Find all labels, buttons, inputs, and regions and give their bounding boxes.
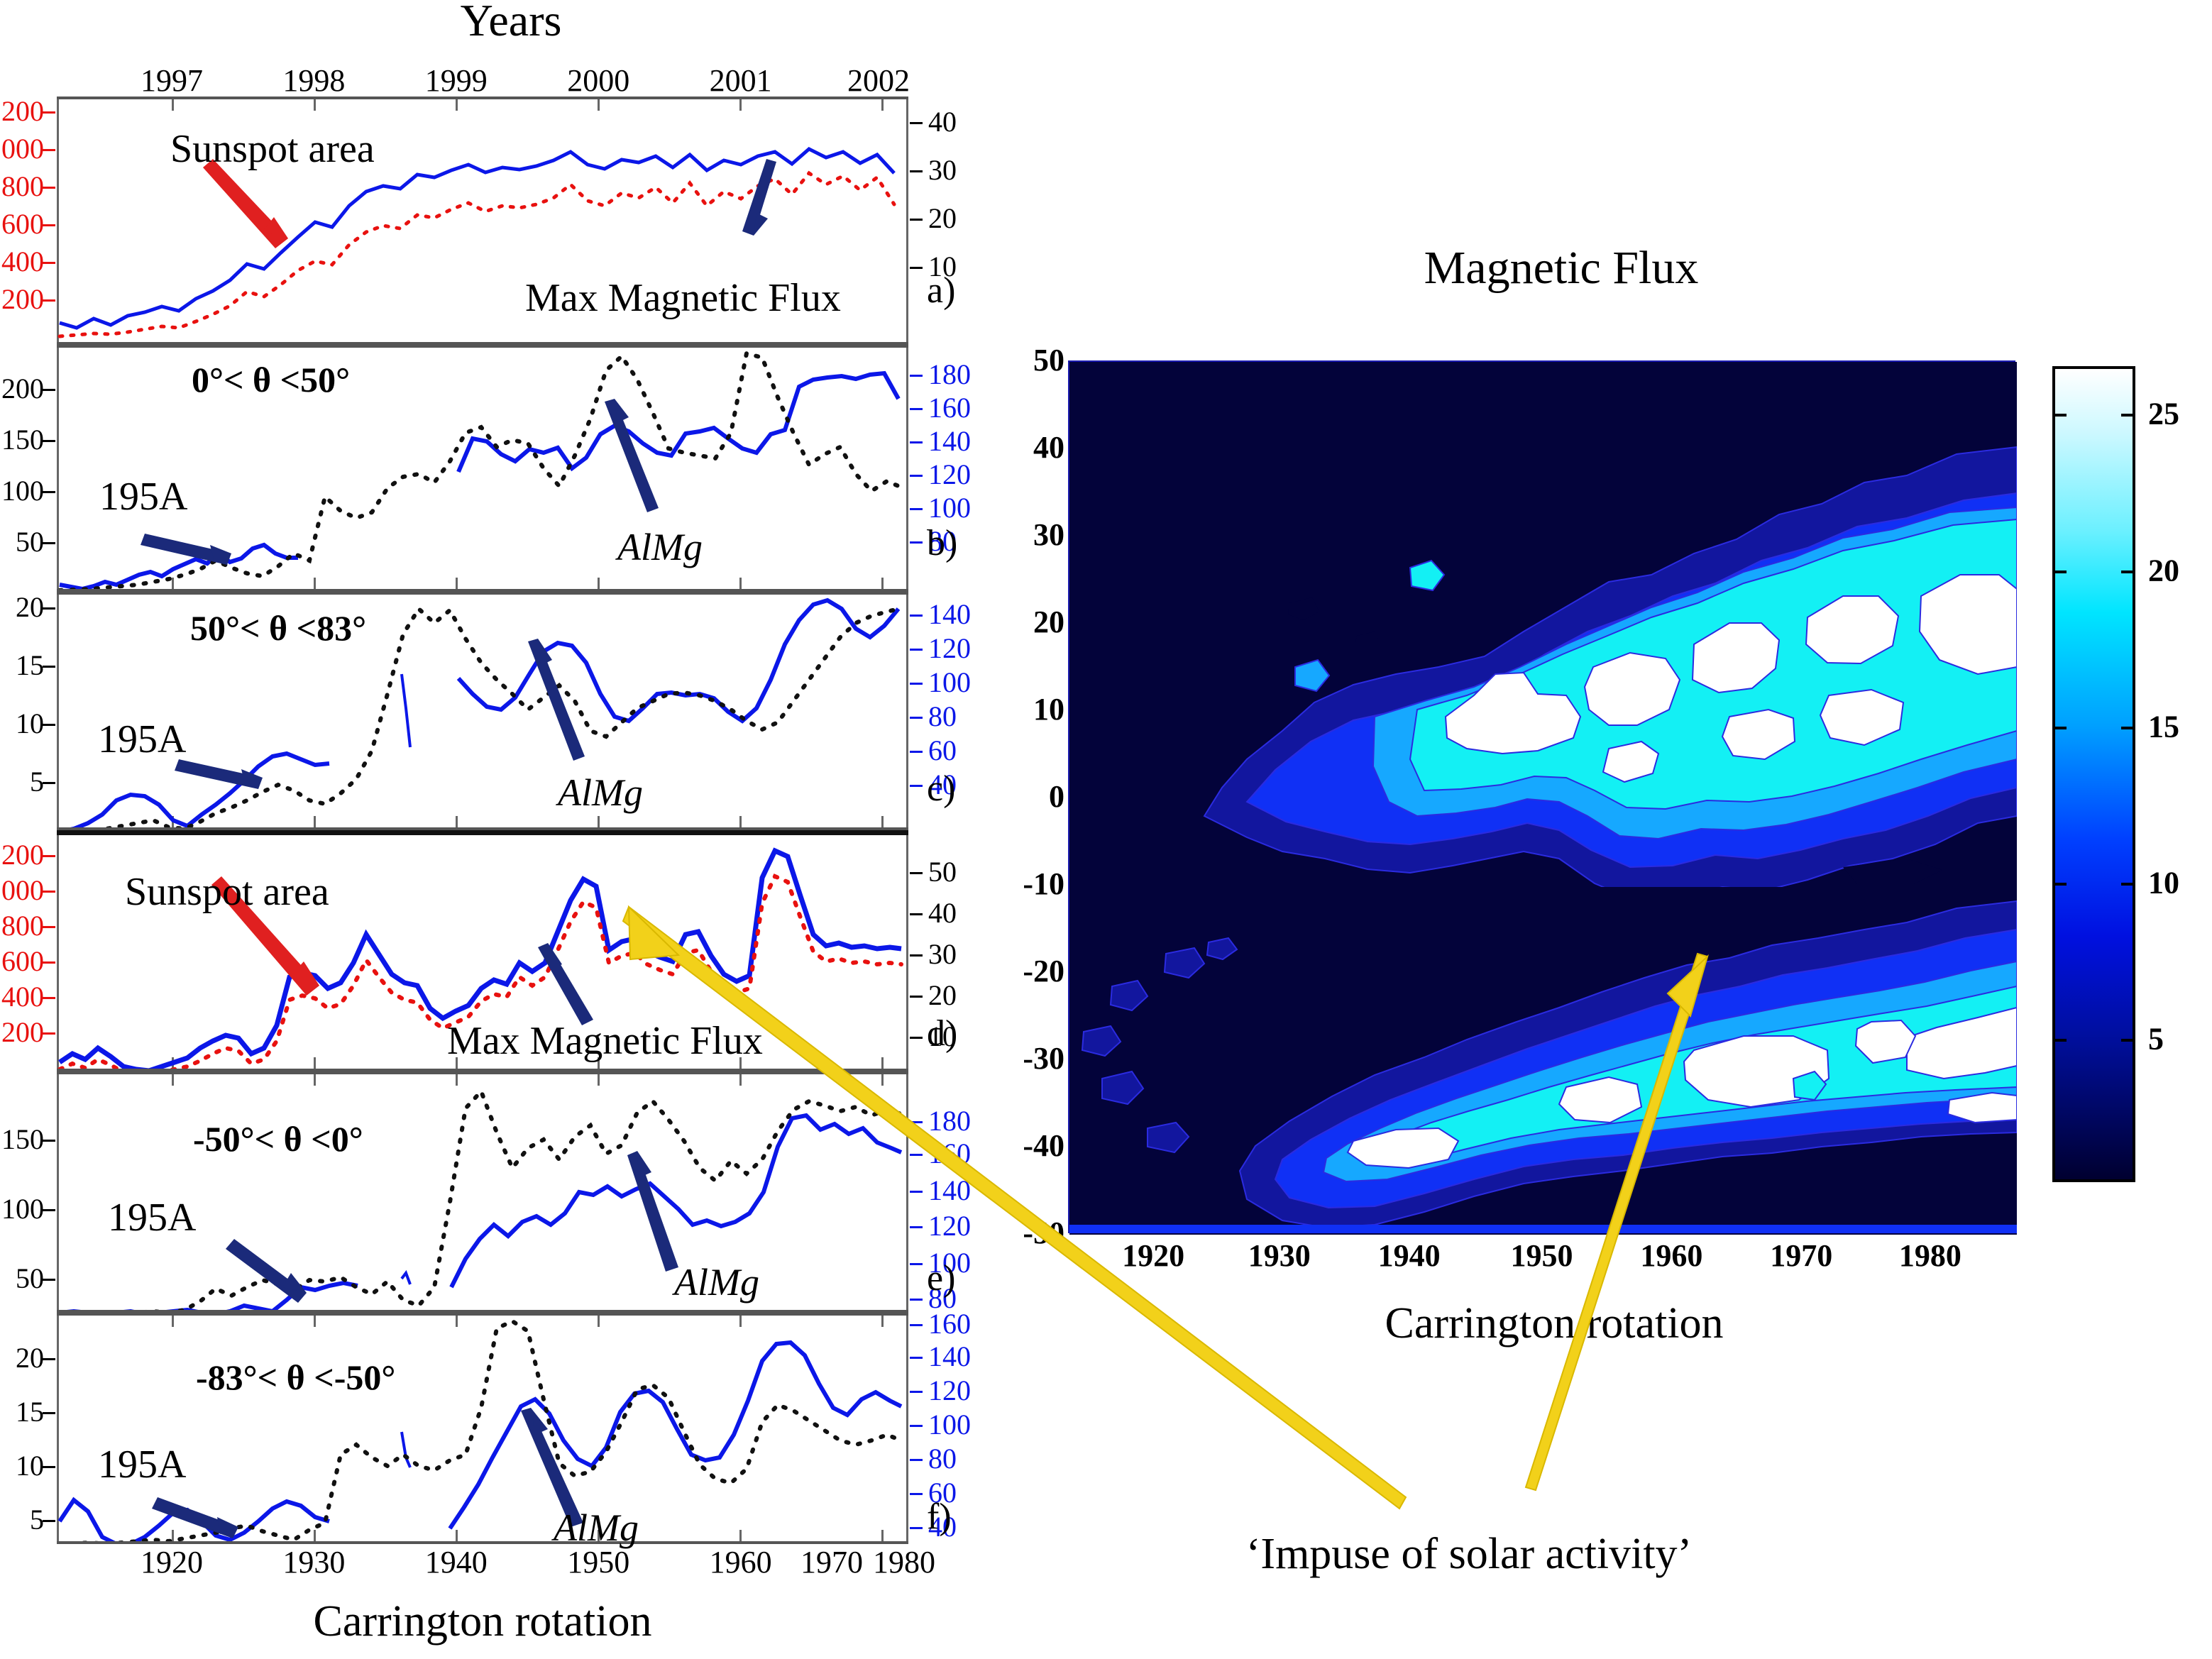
panel-d-left-axis: 1200 1000 800 600 400 200: [0, 835, 55, 1069]
panel-a-ytick-400: 400: [1, 248, 44, 276]
panel-a-sunspot-area-label: Sunspot area: [170, 126, 375, 172]
contour-y-axis: 50 40 30 20 10 0 -10 -20 -30 -40 -50: [986, 360, 1064, 1233]
panel-f-ytick-10: 10: [16, 1452, 44, 1480]
panel-e-tag: e): [927, 1257, 955, 1299]
panel-d: 1200 1000 800 600 400 200 50 40 30 20 10: [57, 830, 908, 1071]
contour-xtick-1980: 1980: [1899, 1240, 1961, 1272]
contour-ytick-0: 0: [1049, 781, 1064, 812]
panel-f-ytick-5: 5: [30, 1506, 44, 1534]
impulse-of-solar-activity-caption: ‘Impuse of solar activity’: [1079, 1529, 1859, 1580]
panel-e: 150 100 50 180 160 140 120 100 80: [57, 1071, 908, 1313]
colorbar-tick-25: 25: [2148, 396, 2179, 432]
panel-c-theta-label: 50°< θ <83°: [190, 607, 366, 649]
panel-f-plot-area: [57, 1316, 908, 1541]
panel-a: 1200 1000 800 600 400 200 40 30 20 10: [57, 97, 908, 345]
panel-e-left-axis: 150 100 50: [0, 1074, 55, 1310]
panel-c-ytick-20: 20: [16, 593, 44, 622]
years-axis-tick-labels: 1997 1998 1999 2000 2001 2002: [57, 62, 908, 97]
year-tick-2002: 2002: [847, 62, 910, 99]
carrington-tick-1960: 1960: [710, 1544, 772, 1580]
panel-e-195a-spike: [402, 1273, 410, 1284]
panel-a-tag: a): [927, 270, 955, 312]
panel-b-theta-label: 0°< θ <50°: [192, 359, 350, 400]
panel-f-almg-arrow: [57, 1316, 908, 1541]
panel-c-almg-label: AlMg: [558, 771, 643, 815]
panel-d-ytick-1200: 1200: [0, 841, 44, 869]
contour-x-axis: 1920 1930 1940 1950 1960 1970 1980: [1068, 1240, 2015, 1283]
contour-xtick-1950: 1950: [1511, 1240, 1573, 1272]
panel-d-max-magnetic-flux-label: Max Magnetic Flux: [447, 1018, 763, 1064]
panel-b-195a-label: 195A: [99, 474, 187, 519]
panel-d-ytick-right-40: 40: [928, 899, 957, 927]
panel-b-195a-curve: [60, 545, 298, 589]
carrington-axis-tick-labels: 1920 1930 1940 1950 1960 1970 1980: [57, 1544, 908, 1587]
contour-ytick-10: 10: [1033, 694, 1064, 725]
panel-f-ytick-right-140: 140: [928, 1343, 971, 1371]
panel-f-almg-curve: [450, 1343, 901, 1528]
carrington-tick-1920: 1920: [141, 1544, 203, 1580]
panel-c-ytick-right-60: 60: [928, 737, 957, 765]
panel-c-ytick-right-140: 140: [928, 600, 971, 629]
panel-b-ytick-right-160: 160: [928, 394, 971, 422]
colorbar-tick-5: 5: [2148, 1021, 2164, 1057]
panel-c-ytick-15: 15: [16, 651, 44, 680]
panel-f-195a-label: 195A: [98, 1442, 186, 1487]
panel-e-195a-curve: [60, 1283, 358, 1310]
panel-e-theta-label: -50°< θ <0°: [193, 1118, 363, 1159]
panel-e-ytick-right-160: 160: [928, 1140, 971, 1168]
panel-c-195a-curve: [60, 754, 329, 827]
panel-a-ytick-600: 600: [1, 210, 44, 238]
panel-d-ytick-right-20: 20: [928, 981, 957, 1010]
panel-d-ytick-800: 800: [1, 912, 44, 940]
contour-filled-regions: [1069, 362, 2017, 1235]
contour-ytick-30: 30: [1033, 519, 1064, 551]
panel-b-ytick-right-180: 180: [928, 360, 971, 389]
panel-e-ytick-right-120: 120: [928, 1212, 971, 1240]
panel-c: 20 15 10 5 140 120 100 80 60 40: [57, 592, 908, 830]
magnetic-flux-contour-map: [1068, 360, 2015, 1233]
years-axis-title: Years: [369, 0, 653, 47]
contour-ytick-neg40: -40: [1023, 1130, 1064, 1162]
panel-b-tag: b): [927, 522, 957, 564]
panel-f-ytick-right-100: 100: [928, 1411, 971, 1439]
panel-f-curves: [57, 1316, 908, 1541]
panel-f-195a-arrow: [57, 1316, 908, 1541]
panel-d-ytick-600: 600: [1, 947, 44, 976]
panel-d-ytick-200: 200: [1, 1018, 44, 1047]
panel-c-195a-spike: [402, 674, 410, 747]
panel-d-ytick-right-30: 30: [928, 940, 957, 969]
contour-ytick-neg30: -30: [1023, 1043, 1064, 1074]
contour-xtick-1930: 1930: [1248, 1240, 1311, 1272]
carrington-tick-1940: 1940: [425, 1544, 488, 1580]
contour-ytick-neg20: -20: [1023, 956, 1064, 987]
year-tick-2000: 2000: [567, 62, 629, 99]
panel-c-195a-label: 195A: [98, 717, 186, 762]
panel-b-ytick-150: 150: [1, 426, 44, 454]
panel-d-ytick-400: 400: [1, 983, 44, 1011]
panel-d-ytick-right-50: 50: [928, 858, 957, 886]
panel-d-ytick-1000: 1000: [0, 876, 44, 905]
panel-a-ytick-right-20: 20: [928, 204, 957, 233]
panel-c-almg-arrow: [57, 595, 908, 827]
panel-f-ytick-20: 20: [16, 1344, 44, 1372]
panel-b-almg-label: AlMg: [617, 525, 703, 569]
panel-c-plot-area: [57, 595, 908, 827]
panel-f-195a-curve: [60, 1500, 329, 1541]
panel-c-ytick-right-80: 80: [928, 702, 957, 731]
panel-c-ytick-right-100: 100: [928, 668, 971, 697]
panel-a-left-axis: 1200 1000 800 600 400 200: [0, 99, 55, 342]
colorbar-tick-labels: 25 20 15 10 5: [2052, 366, 2212, 1182]
colorbar-tick-10: 10: [2148, 865, 2179, 901]
panel-b-plot-area: [57, 348, 908, 589]
panel-e-ytick-50: 50: [16, 1264, 44, 1293]
panel-e-195a-label: 195A: [108, 1195, 196, 1240]
panel-b-ytick-50: 50: [16, 528, 44, 556]
contour-xaxis-caption: Carrington rotation: [1292, 1299, 1817, 1349]
panel-c-ytick-right-120: 120: [928, 634, 971, 663]
carrington-tick-1970: 1970: [800, 1544, 863, 1580]
carrington-tick-1930: 1930: [282, 1544, 345, 1580]
contour-ytick-neg10: -10: [1023, 869, 1064, 900]
panel-b-ytick-right-100: 100: [928, 494, 971, 522]
panel-b-ytick-100: 100: [1, 477, 44, 505]
panel-a-ytick-right-30: 30: [928, 156, 957, 184]
colorbar-tick-15: 15: [2148, 709, 2179, 745]
panel-a-max-magnetic-flux-label: Max Magnetic Flux: [525, 275, 841, 321]
timeseries-panel-column: Years 1997 1998 1999 2000 2001 2002 1200…: [0, 0, 994, 1659]
panel-e-plot-area: [57, 1074, 908, 1310]
panel-f-ytick-15: 15: [16, 1398, 44, 1426]
panel-f-left-axis: 20 15 10 5: [0, 1316, 55, 1541]
panel-c-tag: c): [927, 768, 955, 810]
panel-c-curves: [57, 595, 908, 827]
panel-f: 20 15 10 5 160 140 120 100 80 60 40: [57, 1313, 908, 1544]
panel-f-ytick-right-120: 120: [928, 1377, 971, 1405]
panel-c-ytick-5: 5: [30, 768, 44, 796]
contour-xtick-1940: 1940: [1378, 1240, 1441, 1272]
carrington-tick-1950: 1950: [567, 1544, 629, 1580]
panel-d-sunspot-area-label: Sunspot area: [125, 869, 329, 915]
panel-b-almg-curve: [458, 373, 898, 472]
panel-f-theta-label: -83°< θ <-50°: [196, 1357, 395, 1398]
panel-a-ytick-1200: 1200: [0, 97, 44, 126]
panel-e-curves: [57, 1074, 908, 1310]
year-tick-1997: 1997: [141, 62, 203, 99]
panel-e-ytick-right-180: 180: [928, 1107, 971, 1135]
contour-ytick-20: 20: [1033, 607, 1064, 638]
panel-c-ytick-10: 10: [16, 710, 44, 738]
carrington-tick-1980: 1980: [873, 1544, 935, 1580]
contour-ytick-50: 50: [1033, 345, 1064, 376]
panel-f-almg-label: AlMg: [554, 1506, 639, 1550]
year-tick-1999: 1999: [425, 62, 488, 99]
panel-e-195a-arrow: [57, 1074, 908, 1310]
panel-d-tag: d): [927, 1013, 957, 1054]
panel-c-almg-curve: [458, 600, 898, 721]
panel-b-left-axis: 200 150 100 50: [0, 348, 55, 589]
colorbar-tick-20: 20: [2148, 553, 2179, 589]
panel-b-ytick-right-140: 140: [928, 427, 971, 456]
panel-e-almg-arrow: [57, 1074, 908, 1310]
panel-b-almg-arrow: [57, 348, 908, 589]
panel-f-195a-dotted-curve: [60, 1321, 901, 1541]
panel-b-curves: [57, 348, 908, 589]
panel-a-ytick-200: 200: [1, 285, 44, 314]
panel-c-left-axis: 20 15 10 5: [0, 595, 55, 827]
panel-f-ytick-right-160: 160: [928, 1310, 971, 1338]
panel-b-195a-dotted-curve: [60, 353, 898, 589]
panel-c-195a-arrow: [57, 595, 908, 827]
panel-f-tag: f): [927, 1496, 952, 1538]
panel-b: 200 150 100 50 180 160 140 120 100 80: [57, 345, 908, 592]
panel-b-ytick-right-120: 120: [928, 461, 971, 489]
panel-e-almg-label: AlMg: [674, 1260, 759, 1304]
contour-ytick-neg50: -50: [1023, 1218, 1064, 1249]
contour-panel-column: Magnetic Flux: [994, 0, 2212, 1659]
contour-ytick-40: 40: [1033, 432, 1064, 463]
panel-b-ytick-200: 200: [1, 375, 44, 403]
panel-a-ytick-800: 800: [1, 172, 44, 201]
contour-xtick-1920: 1920: [1122, 1240, 1184, 1272]
panel-b-195a-arrow: [57, 348, 908, 589]
contour-xtick-1970: 1970: [1770, 1240, 1832, 1272]
panel-a-ytick-1000: 1000: [0, 135, 44, 163]
year-tick-2001: 2001: [710, 62, 772, 99]
panel-e-ytick-100: 100: [1, 1195, 44, 1223]
left-carrington-rotation-caption: Carrington rotation: [234, 1597, 731, 1647]
contour-title: Magnetic Flux: [1334, 241, 1788, 295]
panel-f-ytick-right-80: 80: [928, 1445, 957, 1473]
year-tick-1998: 1998: [282, 62, 345, 99]
contour-xtick-1960: 1960: [1640, 1240, 1702, 1272]
panel-f-195a-spike: [402, 1432, 410, 1467]
panel-e-ytick-right-140: 140: [928, 1176, 971, 1205]
panel-a-ytick-right-40: 40: [928, 108, 957, 136]
panel-e-ytick-150: 150: [1, 1125, 44, 1154]
